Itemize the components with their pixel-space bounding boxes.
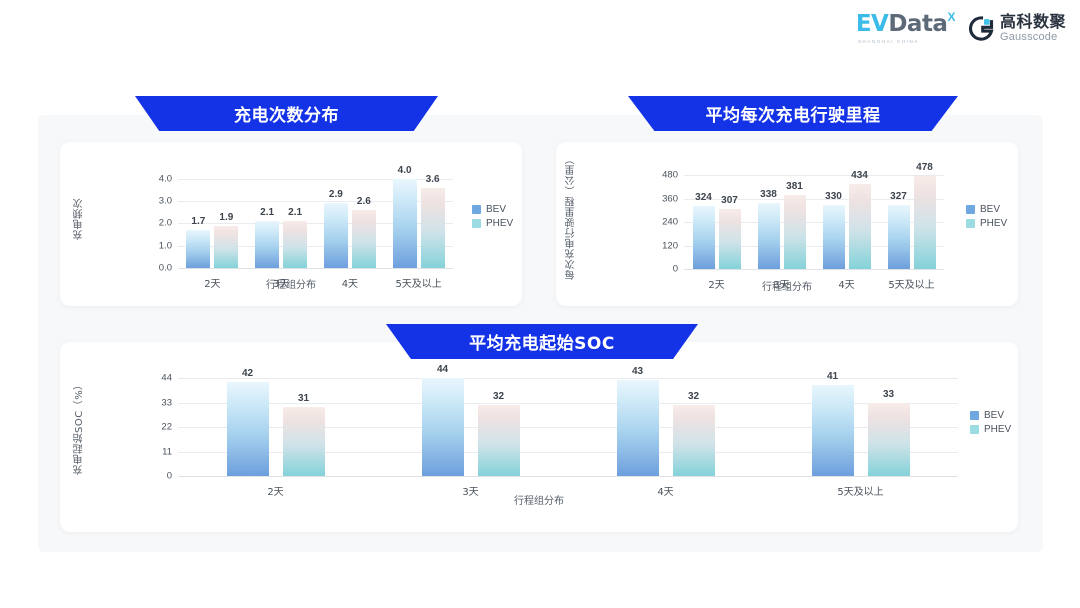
bar-value-label: 33	[883, 389, 894, 400]
x-axis-line	[178, 268, 453, 269]
bar-value-label: 2.1	[260, 207, 274, 218]
legend-swatch-phev	[970, 425, 979, 434]
legend-swatch-phev	[472, 219, 481, 228]
legend-item-bev[interactable]: BEV	[970, 410, 1011, 421]
bar-value-label: 2.6	[357, 196, 371, 207]
plot-area: 0.01.02.03.04.01.71.92天2.12.13天2.92.64天4…	[178, 170, 453, 268]
gausscode-logo-cn: 高科数聚	[1000, 14, 1066, 30]
bar-phev: 307	[719, 209, 741, 269]
legend-swatch-phev	[966, 219, 975, 228]
y-axis-tick-label: 0	[673, 264, 678, 275]
legend-item-phev[interactable]: PHEV	[966, 218, 1007, 229]
bar-value-label: 32	[493, 391, 504, 402]
legend-label-bev: BEV	[984, 410, 1004, 421]
y-axis-tick-label: 11	[162, 446, 172, 457]
bar-value-label: 32	[688, 391, 699, 402]
y-axis-title: 充电起始SOC（%）	[74, 368, 100, 486]
gausscode-logo-en: Gausscode	[1000, 32, 1066, 43]
bar-value-label: 330	[825, 191, 842, 202]
bar-value-label: 338	[760, 189, 777, 200]
bar-value-label: 31	[298, 393, 309, 404]
bar-chart-avg-mileage: 每次充电行驶里程（公里）01202403604803243072天3383813…	[556, 142, 1018, 306]
y-axis-tick-label: 240	[662, 217, 678, 228]
bar-value-label: 3.6	[426, 174, 440, 185]
legend-item-phev[interactable]: PHEV	[970, 424, 1011, 435]
y-axis-tick-label: 4.0	[159, 173, 172, 184]
bar-value-label: 1.7	[191, 216, 205, 227]
bar-value-label: 44	[437, 364, 448, 375]
bar-bev: 330	[823, 205, 845, 269]
evdata-logo-secondary: Data	[888, 13, 947, 36]
y-axis-title: 每次充电行驶里程（公里）	[566, 156, 592, 280]
y-axis-tick-label: 1.0	[159, 240, 172, 251]
chart-card-avg-mileage: 每次充电行驶里程（公里）01202403604803243072天3383813…	[556, 142, 1018, 306]
bar-value-label: 324	[695, 192, 712, 203]
legend-item-bev[interactable]: BEV	[966, 204, 1007, 215]
chart-card-charging-frequency: 充电频次0.01.02.03.04.01.71.92天2.12.13天2.92.…	[60, 142, 522, 306]
chart-title-banner-2: 平均每次充电行驶里程	[628, 96, 958, 131]
plot-area: 01122334442312天44323天43324天41335天及以上	[178, 378, 958, 476]
bar-phev: 3.6	[421, 188, 445, 268]
x-axis-title: 行程组分布	[60, 276, 522, 291]
bar-phev: 2.6	[352, 210, 376, 268]
evdata-logo-wordmark: EV Data X	[856, 13, 955, 36]
bar-value-label: 2.1	[288, 207, 302, 218]
y-axis-tick-label: 44	[161, 373, 172, 384]
bar-bev: 4.0	[393, 179, 417, 268]
legend-label-phev: PHEV	[984, 424, 1011, 435]
x-axis-title: 行程组分布	[60, 492, 1018, 507]
bar-value-label: 381	[786, 181, 803, 192]
legend-label-phev: PHEV	[980, 218, 1007, 229]
evdata-logo-superscript: X	[947, 11, 955, 23]
bar-value-label: 42	[242, 368, 253, 379]
legend-label-bev: BEV	[486, 204, 506, 215]
chart-card-avg-start-soc: 充电起始SOC（%）01122334442312天44323天43324天413…	[60, 342, 1018, 532]
bar-phev: 1.9	[214, 226, 238, 268]
bar-bev: 1.7	[186, 230, 210, 268]
legend-swatch-bev	[472, 205, 481, 214]
legend-item-bev[interactable]: BEV	[472, 204, 513, 215]
y-axis-tick-label: 2.0	[159, 218, 172, 229]
bar-bev: 2.9	[324, 203, 348, 268]
bar-phev: 32	[478, 405, 520, 476]
chart-legend: BEVPHEV	[472, 204, 513, 229]
y-axis-title: 充电频次	[74, 166, 88, 272]
bar-bev: 43	[617, 380, 659, 476]
bar-bev: 41	[812, 385, 854, 476]
y-axis-tick-label: 0.0	[159, 263, 172, 274]
evdata-logo-tagline: shanghai china	[858, 39, 919, 44]
bar-phev: 31	[283, 407, 325, 476]
y-axis-tick-label: 480	[662, 170, 678, 181]
x-axis-line	[684, 269, 944, 270]
logo-group: EV Data X shanghai china 高科数聚 Gausscode	[856, 13, 1066, 44]
bar-phev: 33	[868, 403, 910, 477]
bar-bev: 2.1	[255, 221, 279, 268]
gridline	[178, 378, 958, 379]
gridline	[684, 175, 944, 176]
bar-bev: 324	[693, 206, 715, 269]
chart-title-banner-1: 充电次数分布	[135, 96, 438, 131]
bar-value-label: 327	[890, 191, 907, 202]
y-axis-tick-label: 360	[662, 193, 678, 204]
page-header: EV Data X shanghai china 高科数聚 Gausscode	[0, 0, 1080, 60]
gausscode-mark-icon	[969, 16, 994, 41]
legend-swatch-bev	[966, 205, 975, 214]
legend-swatch-bev	[970, 411, 979, 420]
bar-phev: 32	[673, 405, 715, 476]
gausscode-logo: 高科数聚 Gausscode	[969, 14, 1066, 43]
x-axis-line	[178, 476, 958, 477]
bar-chart-avg-start-soc: 充电起始SOC（%）01122334442312天44323天43324天413…	[60, 342, 1018, 532]
bar-bev: 44	[422, 378, 464, 476]
bar-phev: 478	[914, 176, 936, 269]
y-axis-tick-label: 33	[161, 397, 172, 408]
bar-phev: 434	[849, 184, 871, 269]
chart-legend: BEVPHEV	[966, 204, 1007, 229]
bar-value-label: 4.0	[398, 165, 412, 176]
bar-value-label: 43	[632, 366, 643, 377]
bar-chart-charging-frequency: 充电频次0.01.02.03.04.01.71.92天2.12.13天2.92.…	[60, 142, 522, 306]
evdata-logo: EV Data X shanghai china	[856, 13, 955, 44]
x-axis-title: 行程组分布	[556, 278, 1018, 293]
plot-area: 01202403604803243072天3383813天3304344天327…	[684, 166, 944, 269]
bar-value-label: 1.9	[219, 212, 233, 223]
bar-value-label: 307	[721, 195, 738, 206]
y-axis-tick-label: 120	[662, 240, 678, 251]
bar-phev: 2.1	[283, 221, 307, 268]
gausscode-logo-text: 高科数聚 Gausscode	[1000, 14, 1066, 43]
chart-legend: BEVPHEV	[970, 410, 1011, 435]
bar-value-label: 434	[851, 170, 868, 181]
bar-bev: 327	[888, 205, 910, 269]
bar-phev: 381	[784, 195, 806, 269]
bar-bev: 42	[227, 382, 269, 476]
y-axis-tick-label: 22	[161, 422, 172, 433]
bar-bev: 338	[758, 203, 780, 269]
y-axis-tick-label: 0	[167, 471, 172, 482]
bar-value-label: 2.9	[329, 189, 343, 200]
evdata-logo-primary: EV	[856, 13, 889, 36]
legend-label-phev: PHEV	[486, 218, 513, 229]
bar-value-label: 478	[916, 162, 933, 173]
legend-item-phev[interactable]: PHEV	[472, 218, 513, 229]
chart-title-banner-3: 平均充电起始SOC	[386, 324, 698, 359]
bar-value-label: 41	[827, 371, 838, 382]
y-axis-tick-label: 3.0	[159, 196, 172, 207]
legend-label-bev: BEV	[980, 204, 1000, 215]
